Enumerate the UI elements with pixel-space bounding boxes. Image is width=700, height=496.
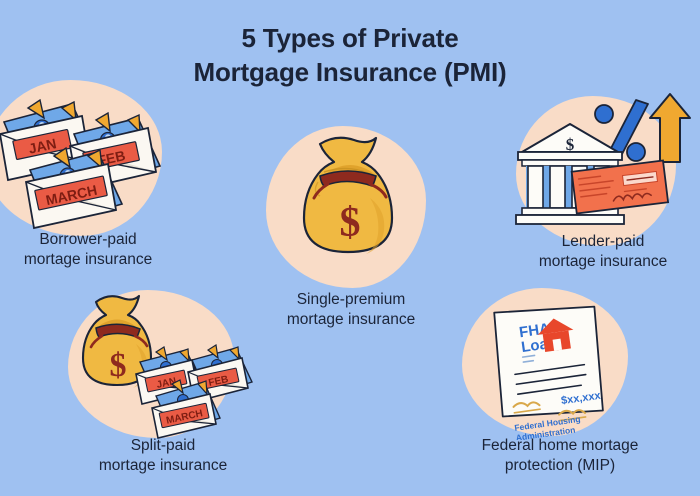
illustration-money-bag: $: [258, 126, 444, 296]
money-bag-dollar-sign: $: [110, 347, 127, 384]
caption-federal-mip: Federal home mortage protection (MIP): [452, 436, 668, 476]
caption-split-paid: Split-paid mortage insurance: [58, 436, 268, 476]
caption-lender-paid: Lender-paid mortage insurance: [508, 232, 698, 272]
caption-line-2: mortage insurance: [258, 310, 444, 330]
caption-borrower-paid: Borrower-paid mortage insurance: [0, 230, 198, 270]
caption-line-2: mortage insurance: [508, 252, 698, 272]
money-bag-dollar-sign: $: [340, 200, 361, 246]
caption-line-1: Split-paid: [131, 437, 196, 454]
caption-single-premium: Single-premium mortage insurance: [258, 290, 444, 330]
caption-line-2: protection (MIP): [452, 456, 668, 476]
money-bag: $: [304, 138, 392, 254]
caption-line-2: mortage insurance: [58, 456, 268, 476]
illustration-fha-loan-document: FHA Loan $xx,xxx Federal Housing Adminis…: [452, 288, 668, 440]
caption-line-1: Federal home mortage: [482, 437, 639, 454]
illustration-bag-and-envelopes: $ JAN: [58, 288, 268, 444]
illustration-bank-percent-check: $: [508, 88, 700, 248]
caption-line-1: Single-premium: [297, 291, 406, 308]
infographic-canvas: 5 Types of Private Mortgage Insurance (P…: [0, 0, 700, 496]
caption-line-2: mortage insurance: [0, 250, 198, 270]
page-title-line-1: 5 Types of Private: [241, 23, 458, 53]
up-arrow-icon: [650, 94, 690, 162]
illustration-three-envelopes: JAN FEB: [0, 78, 198, 238]
caption-line-1: Borrower-paid: [39, 231, 136, 248]
caption-line-1: Lender-paid: [562, 233, 645, 250]
fha-loan-document: FHA Loan $xx,xxx Federal Housing Adminis…: [488, 299, 611, 440]
